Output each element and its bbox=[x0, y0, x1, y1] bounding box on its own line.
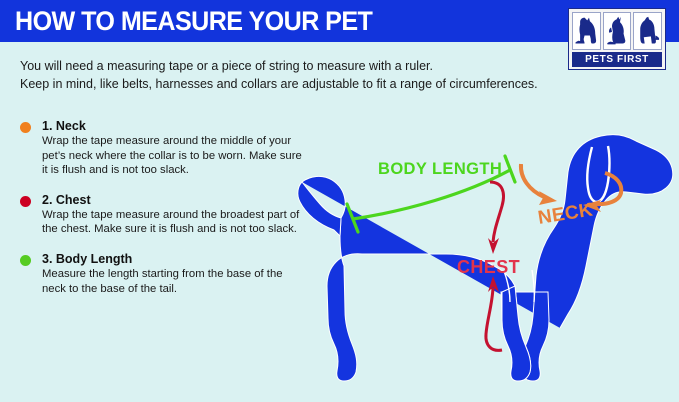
step-body-length-title: 3. Body Length bbox=[42, 251, 305, 267]
step-neck-title: 1. Neck bbox=[42, 118, 305, 134]
label-body-length: BODY LENGTH bbox=[378, 160, 502, 178]
step-body-length: 3. Body Length Measure the length starti… bbox=[20, 251, 305, 296]
intro-text: You will need a measuring tape or a piec… bbox=[20, 57, 600, 93]
measurement-guide-page: HOW TO MEASURE YOUR PET bbox=[0, 0, 679, 402]
bullet-chest-icon bbox=[20, 196, 31, 207]
page-title: HOW TO MEASURE YOUR PET bbox=[15, 6, 372, 36]
bullet-body-length-icon bbox=[20, 255, 31, 266]
intro-line-2: Keep in mind, like belts, harnesses and … bbox=[20, 75, 600, 93]
label-chest: CHEST bbox=[457, 257, 520, 277]
dog-begging-icon bbox=[603, 12, 632, 50]
step-neck: 1. Neck Wrap the tape measure around the… bbox=[20, 118, 305, 178]
measurement-steps-list: 1. Neck Wrap the tape measure around the… bbox=[20, 118, 305, 310]
step-body-length-body: Measure the length starting from the bas… bbox=[42, 267, 304, 296]
logo-icon-row bbox=[572, 12, 662, 50]
dog-measurement-diagram: BODY LENGTH NECK CHEST bbox=[296, 106, 679, 402]
step-neck-body: Wrap the tape measure around the middle … bbox=[42, 134, 304, 178]
dog-sitting-icon bbox=[572, 12, 601, 50]
step-chest: 2. Chest Wrap the tape measure around th… bbox=[20, 192, 305, 237]
step-chest-title: 2. Chest bbox=[42, 192, 305, 208]
step-chest-body: Wrap the tape measure around the broades… bbox=[42, 208, 304, 237]
bullet-neck-icon bbox=[20, 122, 31, 133]
intro-line-1: You will need a measuring tape or a piec… bbox=[20, 57, 600, 75]
dog-standing-icon bbox=[633, 12, 662, 50]
